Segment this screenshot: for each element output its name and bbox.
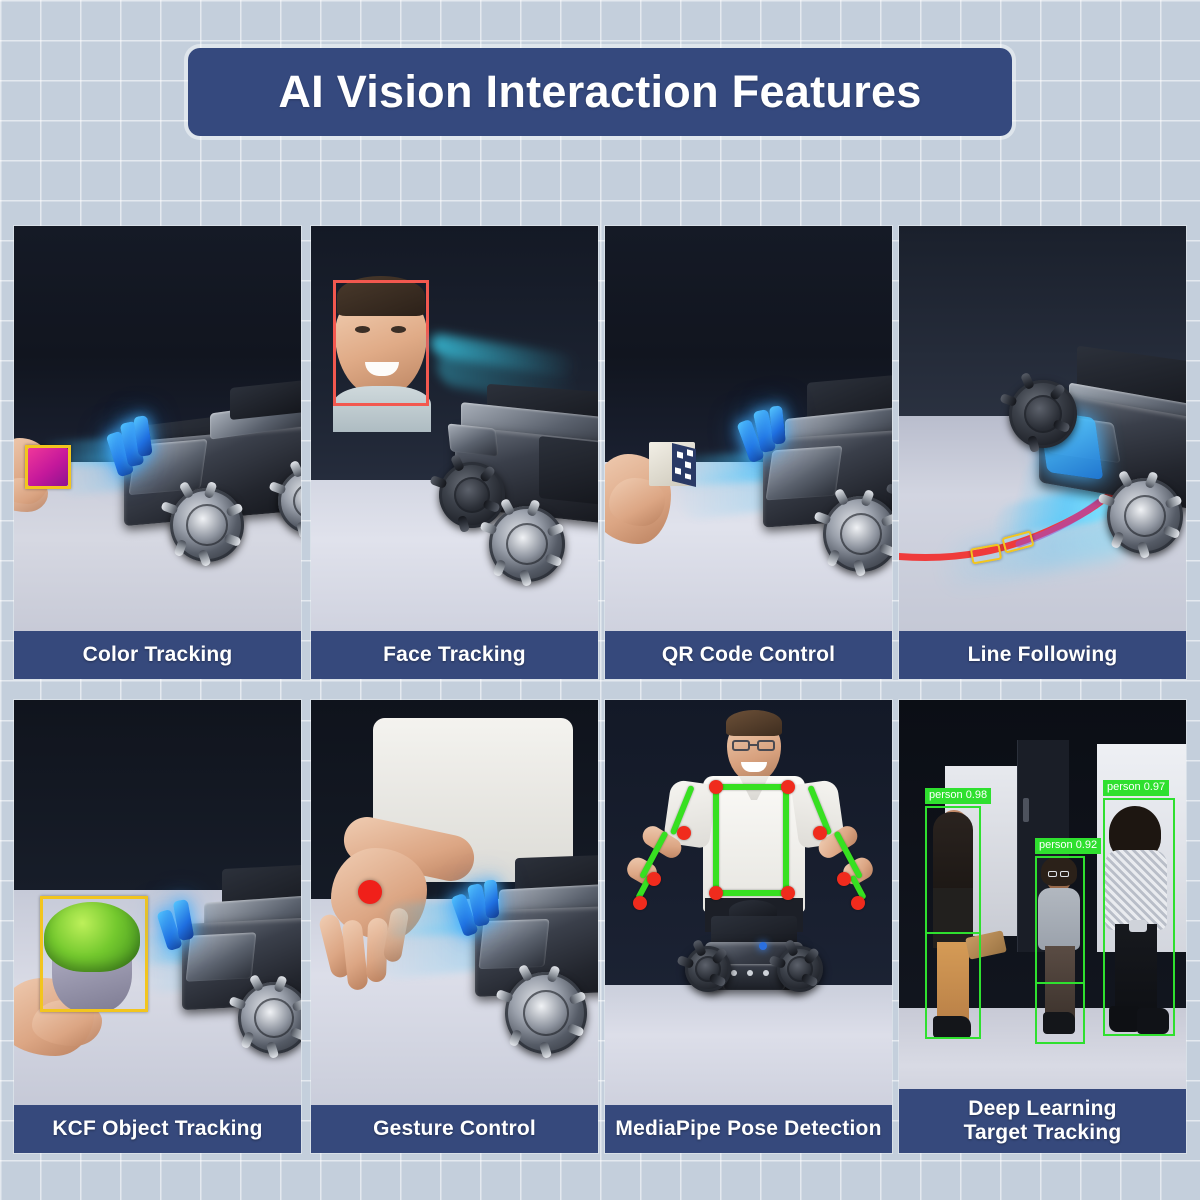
feature-label-color-tracking: Color Tracking: [14, 631, 301, 679]
face-tracking-scene: [311, 226, 598, 679]
feature-card-grid: Color Tracking: [0, 0, 1200, 1200]
kcf-bbox: [40, 896, 148, 1012]
feature-label-mediapipe-pose-detection: MediaPipe Pose Detection: [605, 1105, 892, 1153]
feature-label-gesture-control: Gesture Control: [311, 1105, 598, 1153]
face-bbox: [333, 280, 429, 406]
robot-car: [459, 846, 598, 1086]
feature-label-line-following: Line Following: [899, 631, 1186, 679]
deep-learning-target-tracking-scene: person 0.98 person 0.92: [899, 700, 1186, 1153]
feature-label-line-1: Deep Learning: [964, 1097, 1122, 1121]
gesture-control-scene: [311, 700, 598, 1153]
detection-label-2: person 0.92: [1035, 838, 1101, 854]
robot-car: [691, 908, 817, 1014]
robot-car: [431, 384, 598, 604]
detection-box-2: [1035, 856, 1085, 1044]
gesture-keypoint: [358, 880, 382, 904]
feature-card-face-tracking[interactable]: Face Tracking: [311, 226, 598, 679]
feature-card-mediapipe-pose-detection[interactable]: MediaPipe Pose Detection: [605, 700, 892, 1153]
detection-box-3: [1103, 798, 1175, 1036]
mediapipe-pose-scene: [605, 700, 892, 1153]
mecanum-wheel: [489, 506, 565, 582]
mecanum-wheel: [823, 496, 892, 572]
feature-label-qr-code-control: QR Code Control: [605, 631, 892, 679]
robot-car: [1005, 358, 1186, 608]
kcf-object-tracking-scene: [14, 700, 301, 1153]
feature-card-gesture-control[interactable]: Gesture Control: [311, 700, 598, 1153]
line-following-scene: [899, 226, 1186, 679]
feature-card-qr-code-control[interactable]: QR Code Control: [605, 226, 892, 679]
mecanum-wheel: [1107, 478, 1183, 554]
robot-car: [110, 376, 301, 606]
feature-label-line-2: Target Tracking: [964, 1121, 1122, 1145]
color-tracking-bbox: [25, 445, 71, 489]
mecanum-wheel: [238, 982, 301, 1054]
detection-label-1: person 0.98: [925, 788, 991, 804]
qr-code-cube: [649, 442, 695, 486]
feature-card-deep-learning-target-tracking[interactable]: person 0.98 person 0.92: [899, 700, 1186, 1153]
robot-car: [745, 376, 892, 616]
feature-card-kcf-object-tracking[interactable]: KCF Object Tracking: [14, 700, 301, 1153]
color-tracking-scene: [14, 226, 301, 679]
robot-car: [162, 860, 301, 1090]
feature-label-deep-learning-target-tracking: Deep Learning Target Tracking: [899, 1089, 1186, 1153]
feature-card-line-following[interactable]: Line Following: [899, 226, 1186, 679]
feature-label-kcf-object-tracking: KCF Object Tracking: [14, 1105, 301, 1153]
mecanum-wheel: [505, 972, 587, 1054]
feature-card-color-tracking[interactable]: Color Tracking: [14, 226, 301, 679]
feature-label-face-tracking: Face Tracking: [311, 631, 598, 679]
detection-label-3: person 0.97: [1103, 780, 1169, 796]
qr-code-control-scene: [605, 226, 892, 679]
detection-box-1: [925, 806, 981, 1039]
mecanum-wheel: [170, 488, 244, 562]
